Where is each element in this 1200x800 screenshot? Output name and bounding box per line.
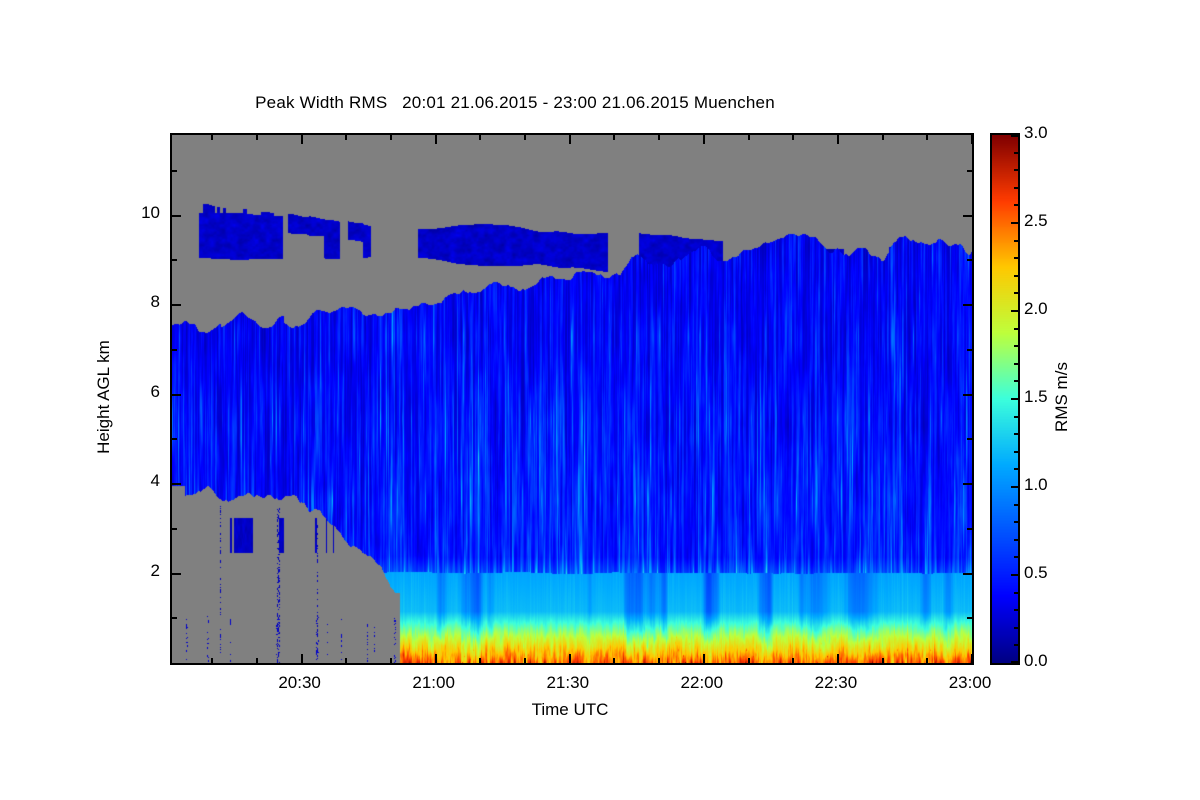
y-tick-major	[172, 573, 181, 575]
colorbar-tick-minor	[1014, 380, 1018, 382]
colorbar-tick-minor	[1014, 363, 1018, 365]
x-tick-major	[971, 654, 973, 663]
y-tick-minor	[172, 438, 177, 440]
x-tick-label: 22:30	[815, 673, 858, 693]
colorbar-tick-minor	[1014, 416, 1018, 418]
y-tick-label: 2	[128, 561, 160, 581]
x-tick-label: 21:00	[412, 673, 455, 693]
x-tick-minor	[256, 658, 258, 663]
x-tick-minor	[211, 658, 213, 663]
y-tick-minor-right	[967, 528, 972, 530]
y-tick-major-right	[963, 215, 972, 217]
colorbar-tick-minor	[1014, 609, 1018, 611]
colorbar-tick-minor	[1014, 328, 1018, 330]
x-tick-label: 21:30	[546, 673, 589, 693]
colorbar-tick-minor	[1014, 592, 1018, 594]
y-tick-major-right	[963, 304, 972, 306]
x-tick-minor-top	[479, 135, 481, 140]
x-tick-major	[837, 654, 839, 663]
colorbar-tick-label: 3.0	[1024, 123, 1048, 143]
colorbar-tick-label: 2.0	[1024, 299, 1048, 319]
x-tick-major-top	[435, 135, 437, 144]
x-tick-label: 20:30	[278, 673, 321, 693]
x-tick-minor	[792, 658, 794, 663]
heatmap-plot-area[interactable]	[170, 133, 974, 665]
colorbar-tick-minor	[1014, 204, 1018, 206]
y-tick-label: 6	[128, 382, 160, 402]
x-tick-minor-top	[256, 135, 258, 140]
x-tick-minor-top	[390, 135, 392, 140]
colorbar-tick-minor	[1014, 169, 1018, 171]
x-tick-major	[703, 654, 705, 663]
y-tick-minor	[172, 528, 177, 530]
y-tick-minor-right	[967, 170, 972, 172]
x-tick-major	[569, 654, 571, 663]
x-tick-minor-top	[524, 135, 526, 140]
y-tick-label: 8	[128, 292, 160, 312]
colorbar-tick-minor	[1014, 345, 1018, 347]
x-tick-minor	[926, 658, 928, 663]
colorbar-tick-minor	[1014, 275, 1018, 277]
colorbar-tick-minor	[1014, 240, 1018, 242]
x-tick-minor-top	[792, 135, 794, 140]
colorbar-tick	[1011, 135, 1018, 137]
colorbar-tick	[1011, 661, 1018, 663]
x-tick-minor	[748, 658, 750, 663]
y-tick-minor-right	[967, 349, 972, 351]
x-tick-minor	[390, 658, 392, 663]
colorbar-tick-minor	[1014, 468, 1018, 470]
x-tick-minor-top	[211, 135, 213, 140]
x-tick-minor-top	[345, 135, 347, 140]
x-tick-minor-top	[613, 135, 615, 140]
colorbar-tick-minor	[1014, 504, 1018, 506]
x-tick-label: 23:00	[949, 673, 992, 693]
colorbar-tick-label: 0.0	[1024, 651, 1048, 671]
x-tick-minor-top	[926, 135, 928, 140]
colorbar-tick-label: 1.5	[1024, 387, 1048, 407]
y-tick-major	[172, 394, 181, 396]
colorbar-tick-minor	[1014, 521, 1018, 523]
colorbar-tick	[1011, 398, 1018, 400]
x-tick-minor	[479, 658, 481, 663]
colorbar-tick-minor	[1014, 539, 1018, 541]
heatmap-image	[172, 135, 972, 663]
y-tick-minor-right	[967, 259, 972, 261]
y-tick-major-right	[963, 573, 972, 575]
x-tick-minor	[882, 658, 884, 663]
x-axis-title: Time UTC	[532, 700, 609, 720]
x-tick-major-top	[837, 135, 839, 144]
colorbar-title: RMS m/s	[1052, 362, 1072, 432]
y-tick-label: 4	[128, 471, 160, 491]
y-tick-label: 10	[128, 203, 160, 223]
y-tick-minor	[172, 617, 177, 619]
y-tick-major	[172, 483, 181, 485]
y-tick-minor-right	[967, 438, 972, 440]
x-tick-major	[301, 654, 303, 663]
colorbar-tick-minor	[1014, 187, 1018, 189]
y-tick-major-right	[963, 483, 972, 485]
y-axis-title: Height AGL km	[94, 340, 114, 454]
colorbar-tick-minor	[1014, 556, 1018, 558]
colorbar-tick-minor	[1014, 486, 1018, 488]
colorbar-tick-minor	[1014, 627, 1018, 629]
x-tick-minor	[613, 658, 615, 663]
y-tick-minor	[172, 259, 177, 261]
colorbar-tick-label: 1.0	[1024, 475, 1048, 495]
colorbar-tick-minor	[1014, 433, 1018, 435]
colorbar-tick	[1011, 310, 1018, 312]
x-tick-major-top	[301, 135, 303, 144]
y-tick-minor	[172, 170, 177, 172]
page-title: Peak Width RMS 20:01 21.06.2015 - 23:00 …	[0, 93, 1030, 113]
colorbar-tick-label: 0.5	[1024, 563, 1048, 583]
x-tick-major-top	[971, 135, 973, 144]
colorbar-tick	[1011, 222, 1018, 224]
x-tick-major-top	[569, 135, 571, 144]
y-tick-minor-right	[967, 617, 972, 619]
x-tick-minor-top	[748, 135, 750, 140]
colorbar-tick	[1011, 574, 1018, 576]
colorbar-tick-minor	[1014, 451, 1018, 453]
figure-canvas: Peak Width RMS 20:01 21.06.2015 - 23:00 …	[0, 0, 1200, 800]
x-tick-minor	[524, 658, 526, 663]
x-tick-minor-top	[882, 135, 884, 140]
y-tick-major-right	[963, 394, 972, 396]
colorbar-tick-label: 2.5	[1024, 211, 1048, 231]
colorbar-tick-minor	[1014, 152, 1018, 154]
y-tick-minor	[172, 349, 177, 351]
y-tick-major	[172, 304, 181, 306]
x-tick-minor-top	[658, 135, 660, 140]
x-tick-label: 22:00	[681, 673, 724, 693]
colorbar-tick-minor	[1014, 257, 1018, 259]
x-tick-minor	[658, 658, 660, 663]
colorbar[interactable]	[990, 133, 1020, 665]
colorbar-tick-minor	[1014, 644, 1018, 646]
colorbar-tick-minor	[1014, 292, 1018, 294]
x-tick-major-top	[703, 135, 705, 144]
x-tick-major	[435, 654, 437, 663]
x-tick-minor	[345, 658, 347, 663]
y-tick-major	[172, 215, 181, 217]
